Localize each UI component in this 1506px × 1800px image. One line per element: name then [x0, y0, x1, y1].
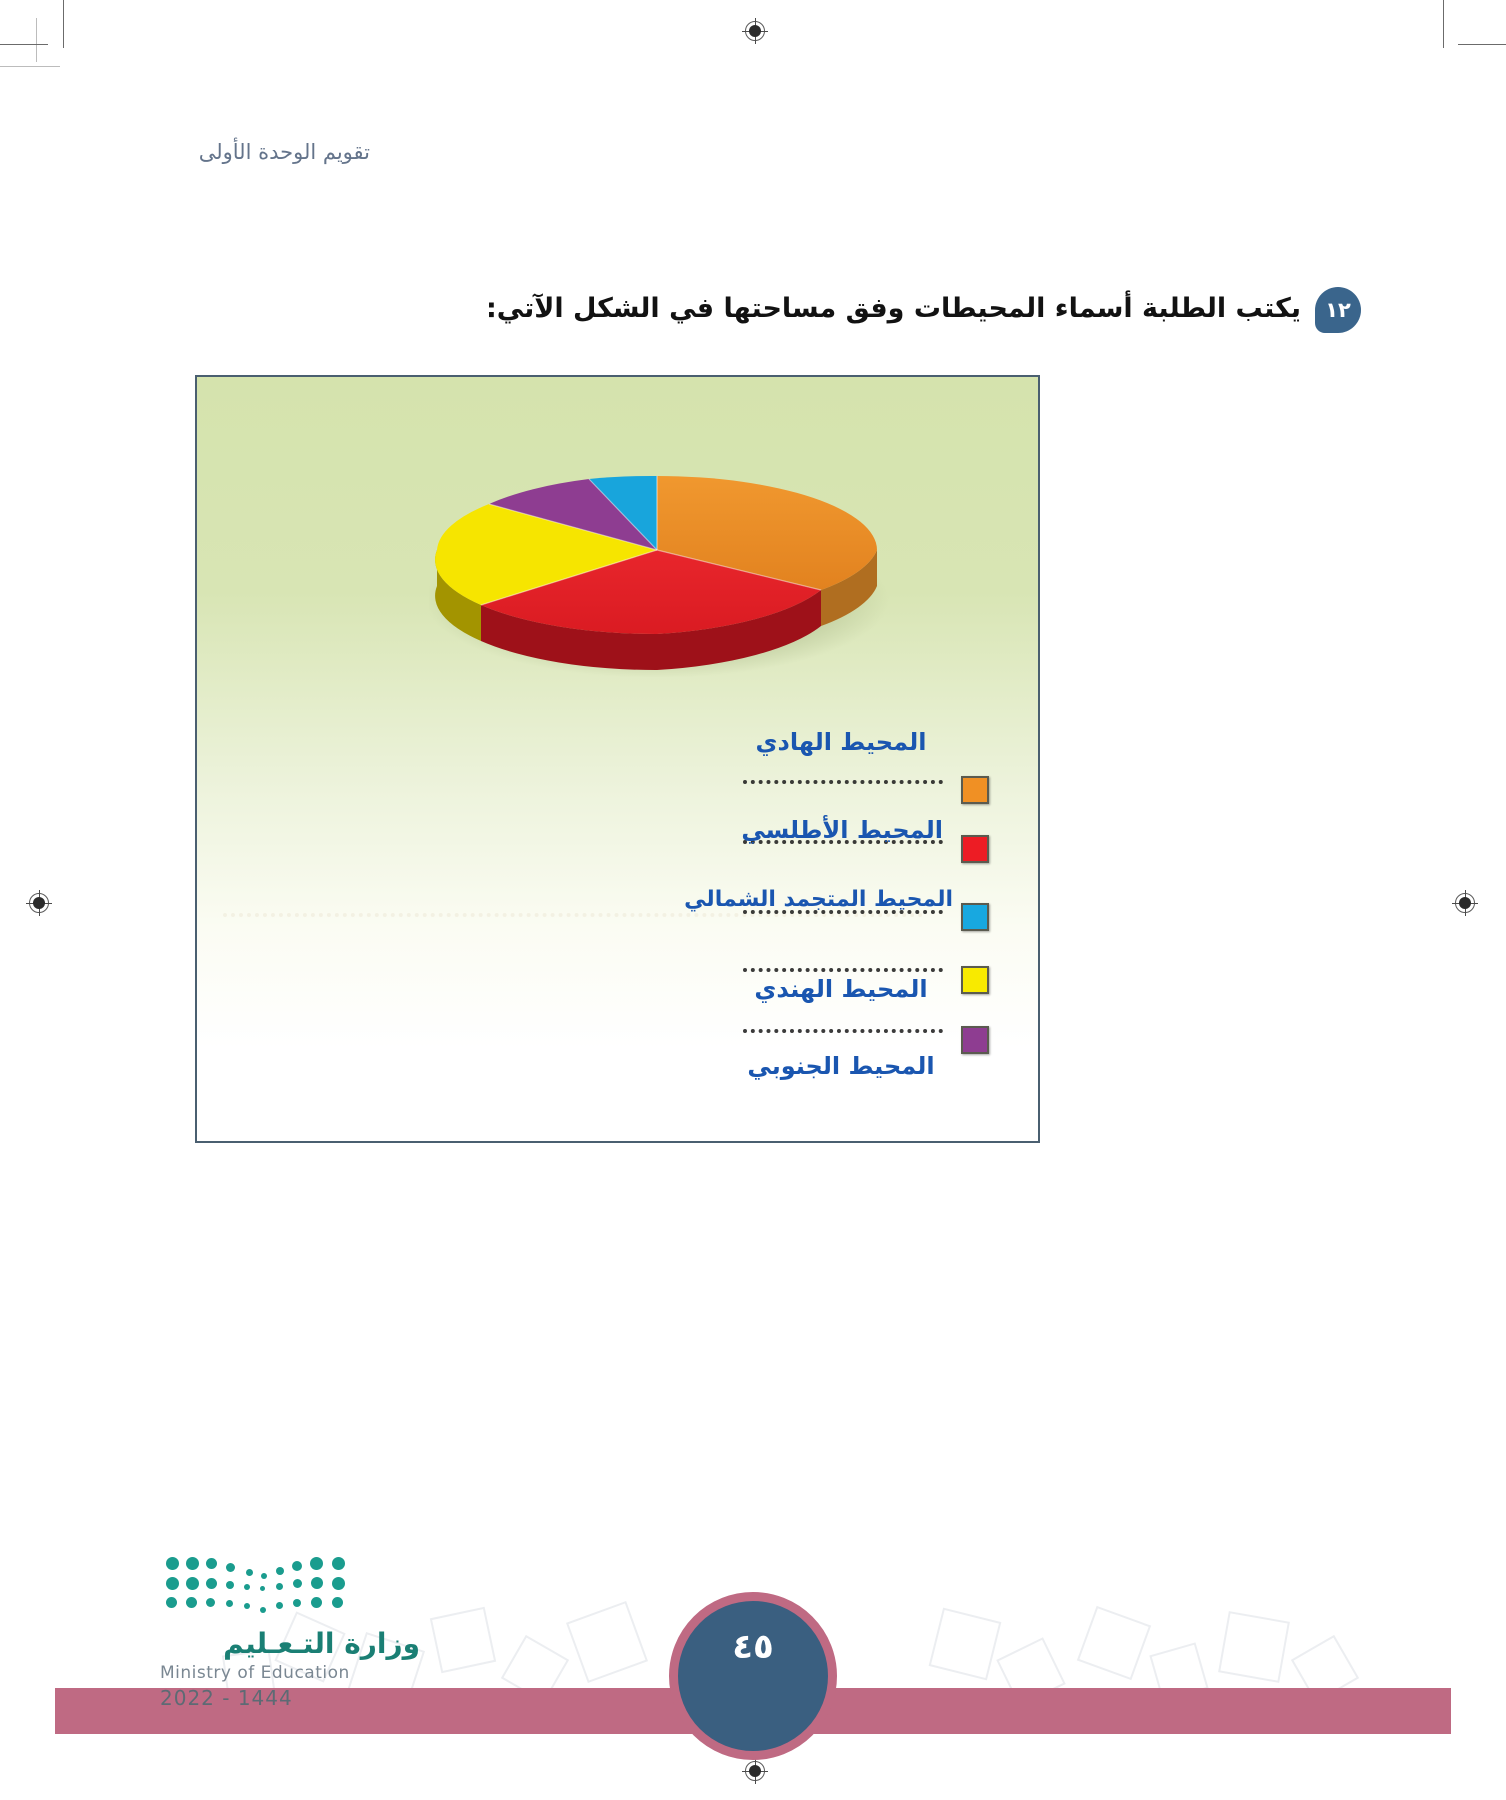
- answer-line[interactable]: [743, 1025, 943, 1033]
- purple-swatch: [961, 1026, 989, 1054]
- legend-answer-southern: المحيط الجنوبي: [743, 1052, 939, 1080]
- registration-mark-right: [1452, 890, 1478, 916]
- pie-chart: [429, 432, 889, 677]
- red-swatch: [961, 835, 989, 863]
- answer-line[interactable]: [743, 964, 943, 972]
- cyan-swatch: [961, 903, 989, 931]
- page-number-badge: ٤٥: [669, 1592, 837, 1760]
- registration-mark-top: [742, 18, 768, 44]
- legend-answer-atlantic: المحيط الأطلسي: [743, 816, 943, 844]
- running-head: تقويم الوحدة الأولى: [0, 140, 370, 164]
- registration-mark-left: [26, 890, 52, 916]
- page-number: ٤٥: [732, 1627, 774, 1667]
- legend-answer-pacific: المحيط الهادي: [743, 728, 939, 756]
- ministry-name-ar: وزارة التـعـليم: [160, 1627, 420, 1660]
- legend-answer-arctic: المحيط المتجمد الشمالي: [731, 887, 953, 912]
- ministry-years: 2022 - 1444: [160, 1686, 420, 1710]
- answer-line[interactable]: [743, 776, 943, 784]
- crop-mark-top-left-v: [63, 0, 64, 48]
- crop-mark-top-left-v2: [36, 18, 37, 62]
- crop-mark-top-right-v: [1443, 0, 1444, 48]
- orange-swatch: [961, 776, 989, 804]
- question-row: ١٢ يكتب الطلبة أسماء المحيطات وفق مساحته…: [361, 285, 1361, 333]
- logo-dot-pattern: [160, 1555, 350, 1617]
- yellow-swatch: [961, 966, 989, 994]
- legend-answer-indian: المحيط الهندي: [743, 975, 939, 1003]
- registration-mark-bottom: [742, 1758, 768, 1784]
- ministry-logo: وزارة التـعـليم Ministry of Education 20…: [160, 1555, 420, 1710]
- ministry-name-en: Ministry of Education: [160, 1663, 420, 1683]
- figure-panel: المحيط الهادي المحيط الأطلسي المحيط المت…: [195, 375, 1040, 1143]
- question-number-badge: ١٢: [1315, 287, 1361, 333]
- crop-mark-top-right-h: [1458, 44, 1506, 45]
- pie-chart-svg: [429, 432, 889, 677]
- crop-mark-top-left-h: [0, 44, 48, 45]
- question-text: يكتب الطلبة أسماء المحيطات وفق مساحتها ف…: [486, 285, 1301, 328]
- textbook-page: تقويم الوحدة الأولى ١٢ يكتب الطلبة أسماء…: [0, 0, 1506, 1800]
- crop-mark-top-left-h2: [0, 66, 60, 67]
